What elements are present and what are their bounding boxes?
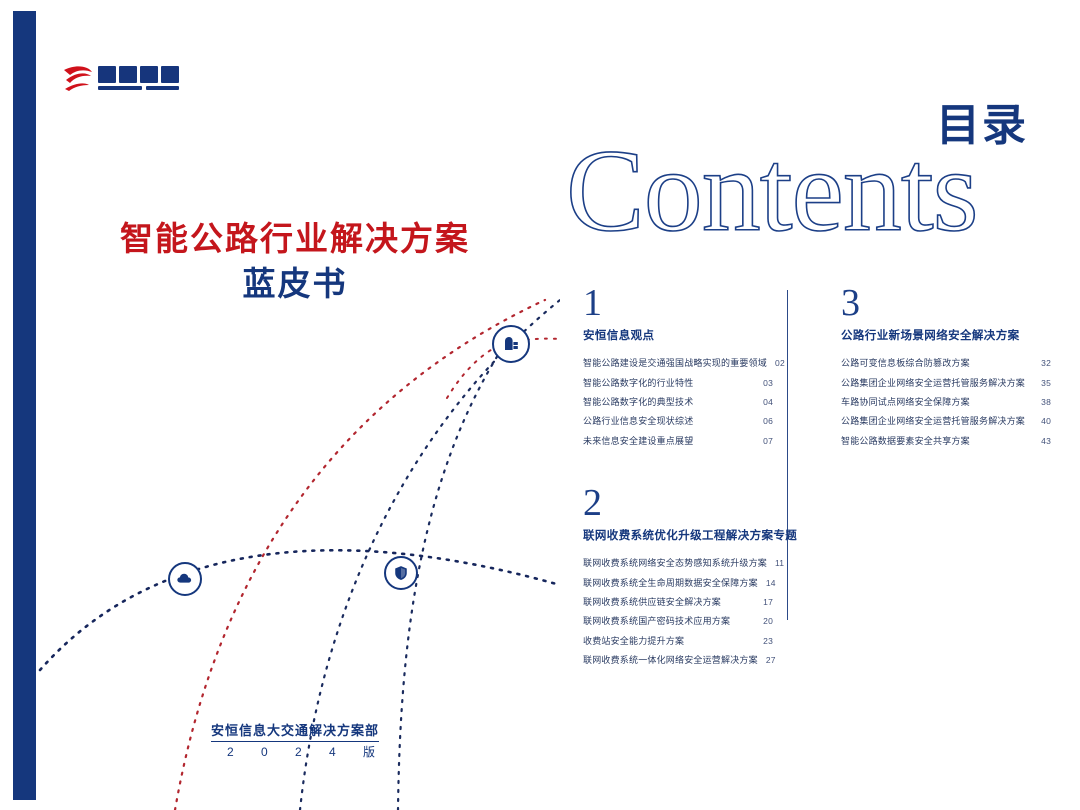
toc-entry[interactable]: 联网收费系统供应链安全解决方案 17 (583, 593, 773, 612)
toc-entry-page: 43 (1041, 437, 1051, 446)
toc-entry-page: 17 (763, 598, 773, 607)
section-number: 2 (583, 485, 773, 521)
toc-column-left: 1 安恒信息观点 智能公路建设是交通强国战略实现的重要领域 02 智能公路数字化… (583, 285, 773, 704)
contents-outline-text: Contents (566, 140, 1036, 250)
toc-item-list: 智能公路建设是交通强国战略实现的重要领域 02 智能公路数字化的行业特性 03 … (583, 354, 773, 451)
toc-entry-label: 联网收费系统国产密码技术应用方案 (583, 617, 730, 626)
heading-en: Contents (566, 140, 1036, 250)
toc-entry-label: 联网收费系统供应链安全解决方案 (583, 598, 721, 607)
toc-entry-page: 03 (763, 379, 773, 388)
toc-entry-page: 35 (1041, 379, 1051, 388)
toc-entry-page: 32 (1041, 359, 1051, 368)
toc-entry-label: 联网收费系统一体化网络安全运营解决方案 (583, 656, 758, 665)
department-label: 安恒信息大交通解决方案部 (60, 720, 530, 742)
toll-booth-node (492, 325, 530, 363)
section-title: 联网收费系统优化升级工程解决方案专题 (583, 527, 773, 543)
toc-entry-page: 27 (766, 656, 776, 665)
toc-item-list: 公路可变信息板综合防篡改方案 32 公路集团企业网络安全运营托管服务解决方案 3… (841, 354, 1051, 451)
toc-entry[interactable]: 智能公路建设是交通强国战略实现的重要领域 02 (583, 354, 773, 373)
page-title: 智能公路行业解决方案 蓝皮书 (60, 218, 530, 306)
shield-icon (392, 564, 410, 582)
toc-entry[interactable]: 收费站安全能力提升方案 23 (583, 632, 773, 651)
toc-entry[interactable]: 联网收费系统一体化网络安全运营解决方案 27 (583, 651, 773, 670)
toc-entry[interactable]: 公路集团企业网络安全运营托管服务解决方案 35 (841, 373, 1051, 392)
toc-entry[interactable]: 车路协同试点网络安全保障方案 38 (841, 393, 1051, 412)
toc-entry-page: 06 (763, 417, 773, 426)
toc-entry[interactable]: 公路可变信息板综合防篡改方案 32 (841, 354, 1051, 373)
toc-entry-page: 11 (775, 559, 784, 568)
toc-entry-label: 车路协同试点网络安全保障方案 (841, 398, 970, 407)
toc-entry-label: 联网收费系统全生命周期数据安全保障方案 (583, 579, 758, 588)
toc-entry[interactable]: 联网收费系统国产密码技术应用方案 20 (583, 612, 773, 631)
toc-page: 智能公路行业解决方案 蓝皮书 安恒信息大交通解决方案部 2 0 2 4 版 目录… (0, 0, 1080, 810)
toc-entry-page: 40 (1041, 417, 1051, 426)
toc-entry-label: 公路可变信息板综合防篡改方案 (841, 359, 970, 368)
toc-entry-label: 公路集团企业网络安全运营托管服务解决方案 (841, 417, 1025, 426)
title-line-primary: 智能公路行业解决方案 (60, 218, 530, 259)
toc-section: 1 安恒信息观点 智能公路建设是交通强国战略实现的重要领域 02 智能公路数字化… (583, 285, 773, 451)
toc-entry-page: 07 (763, 437, 773, 446)
logo-wordmark-en (98, 86, 179, 90)
section-title: 公路行业新场景网络安全解决方案 (841, 327, 1051, 343)
section-number: 1 (583, 285, 773, 321)
toc-item-list: 联网收费系统网络安全态势感知系统升级方案 11 联网收费系统全生命周期数据安全保… (583, 554, 773, 670)
logo-wordmark-cn (98, 66, 179, 83)
toc-entry[interactable]: 未来信息安全建设重点展望 07 (583, 432, 773, 451)
toc-entry-label: 智能公路建设是交通强国战略实现的重要领域 (583, 359, 767, 368)
toc-entry-label: 公路行业信息安全现状综述 (583, 417, 693, 426)
year-label: 2 0 2 4 版 (60, 743, 542, 760)
toc-section: 3 公路行业新场景网络安全解决方案 公路可变信息板综合防篡改方案 32 公路集团… (841, 285, 1051, 451)
toc-column-divider (787, 290, 788, 620)
toc-entry[interactable]: 联网收费系统全生命周期数据安全保障方案 14 (583, 573, 773, 592)
left-accent-bar (13, 11, 36, 800)
company-logo (62, 58, 182, 98)
toc-entry-label: 智能公路数字化的行业特性 (583, 379, 693, 388)
department-text: 安恒信息大交通解决方案部 (211, 720, 379, 742)
toc-entry-label: 未来信息安全建设重点展望 (583, 437, 693, 446)
toc-entry-page: 14 (766, 579, 776, 588)
section-title: 安恒信息观点 (583, 327, 773, 343)
toc-entry[interactable]: 公路集团企业网络安全运营托管服务解决方案 40 (841, 412, 1051, 431)
toc-entry[interactable]: 智能公路数字化的典型技术 04 (583, 393, 773, 412)
cloud-node (168, 562, 202, 596)
decorative-network-graphic (0, 0, 560, 810)
toc-entry[interactable]: 智能公路数字化的行业特性 03 (583, 373, 773, 392)
svg-text:Contents: Contents (566, 140, 978, 250)
toc-entry[interactable]: 联网收费系统网络安全态势感知系统升级方案 11 (583, 554, 773, 573)
toc-entry-page: 04 (763, 398, 773, 407)
toc-column-right: 3 公路行业新场景网络安全解决方案 公路可变信息板综合防篡改方案 32 公路集团… (841, 285, 1051, 485)
toc-entry-page: 23 (763, 637, 773, 646)
shield-node (384, 556, 418, 590)
toc-entry[interactable]: 公路行业信息安全现状综述 06 (583, 412, 773, 431)
toc-entry-page: 02 (775, 359, 785, 368)
toc-entry-label: 收费站安全能力提升方案 (583, 637, 684, 646)
toc-section: 2 联网收费系统优化升级工程解决方案专题 联网收费系统网络安全态势感知系统升级方… (583, 485, 773, 670)
toc-entry-label: 联网收费系统网络安全态势感知系统升级方案 (583, 559, 767, 568)
section-number: 3 (841, 285, 1051, 321)
title-line-secondary: 蓝皮书 (60, 263, 530, 306)
toc-entry[interactable]: 智能公路数据要素安全共享方案 43 (841, 432, 1051, 451)
toll-booth-icon (501, 334, 521, 354)
cloud-icon (176, 570, 194, 588)
toc-entry-label: 智能公路数字化的典型技术 (583, 398, 693, 407)
toc-entry-page: 38 (1041, 398, 1051, 407)
red-swoosh-icon (64, 66, 92, 91)
toc-entry-label: 智能公路数据要素安全共享方案 (841, 437, 970, 446)
toc-entry-page: 20 (763, 617, 773, 626)
toc-entry-label: 公路集团企业网络安全运营托管服务解决方案 (841, 379, 1025, 388)
